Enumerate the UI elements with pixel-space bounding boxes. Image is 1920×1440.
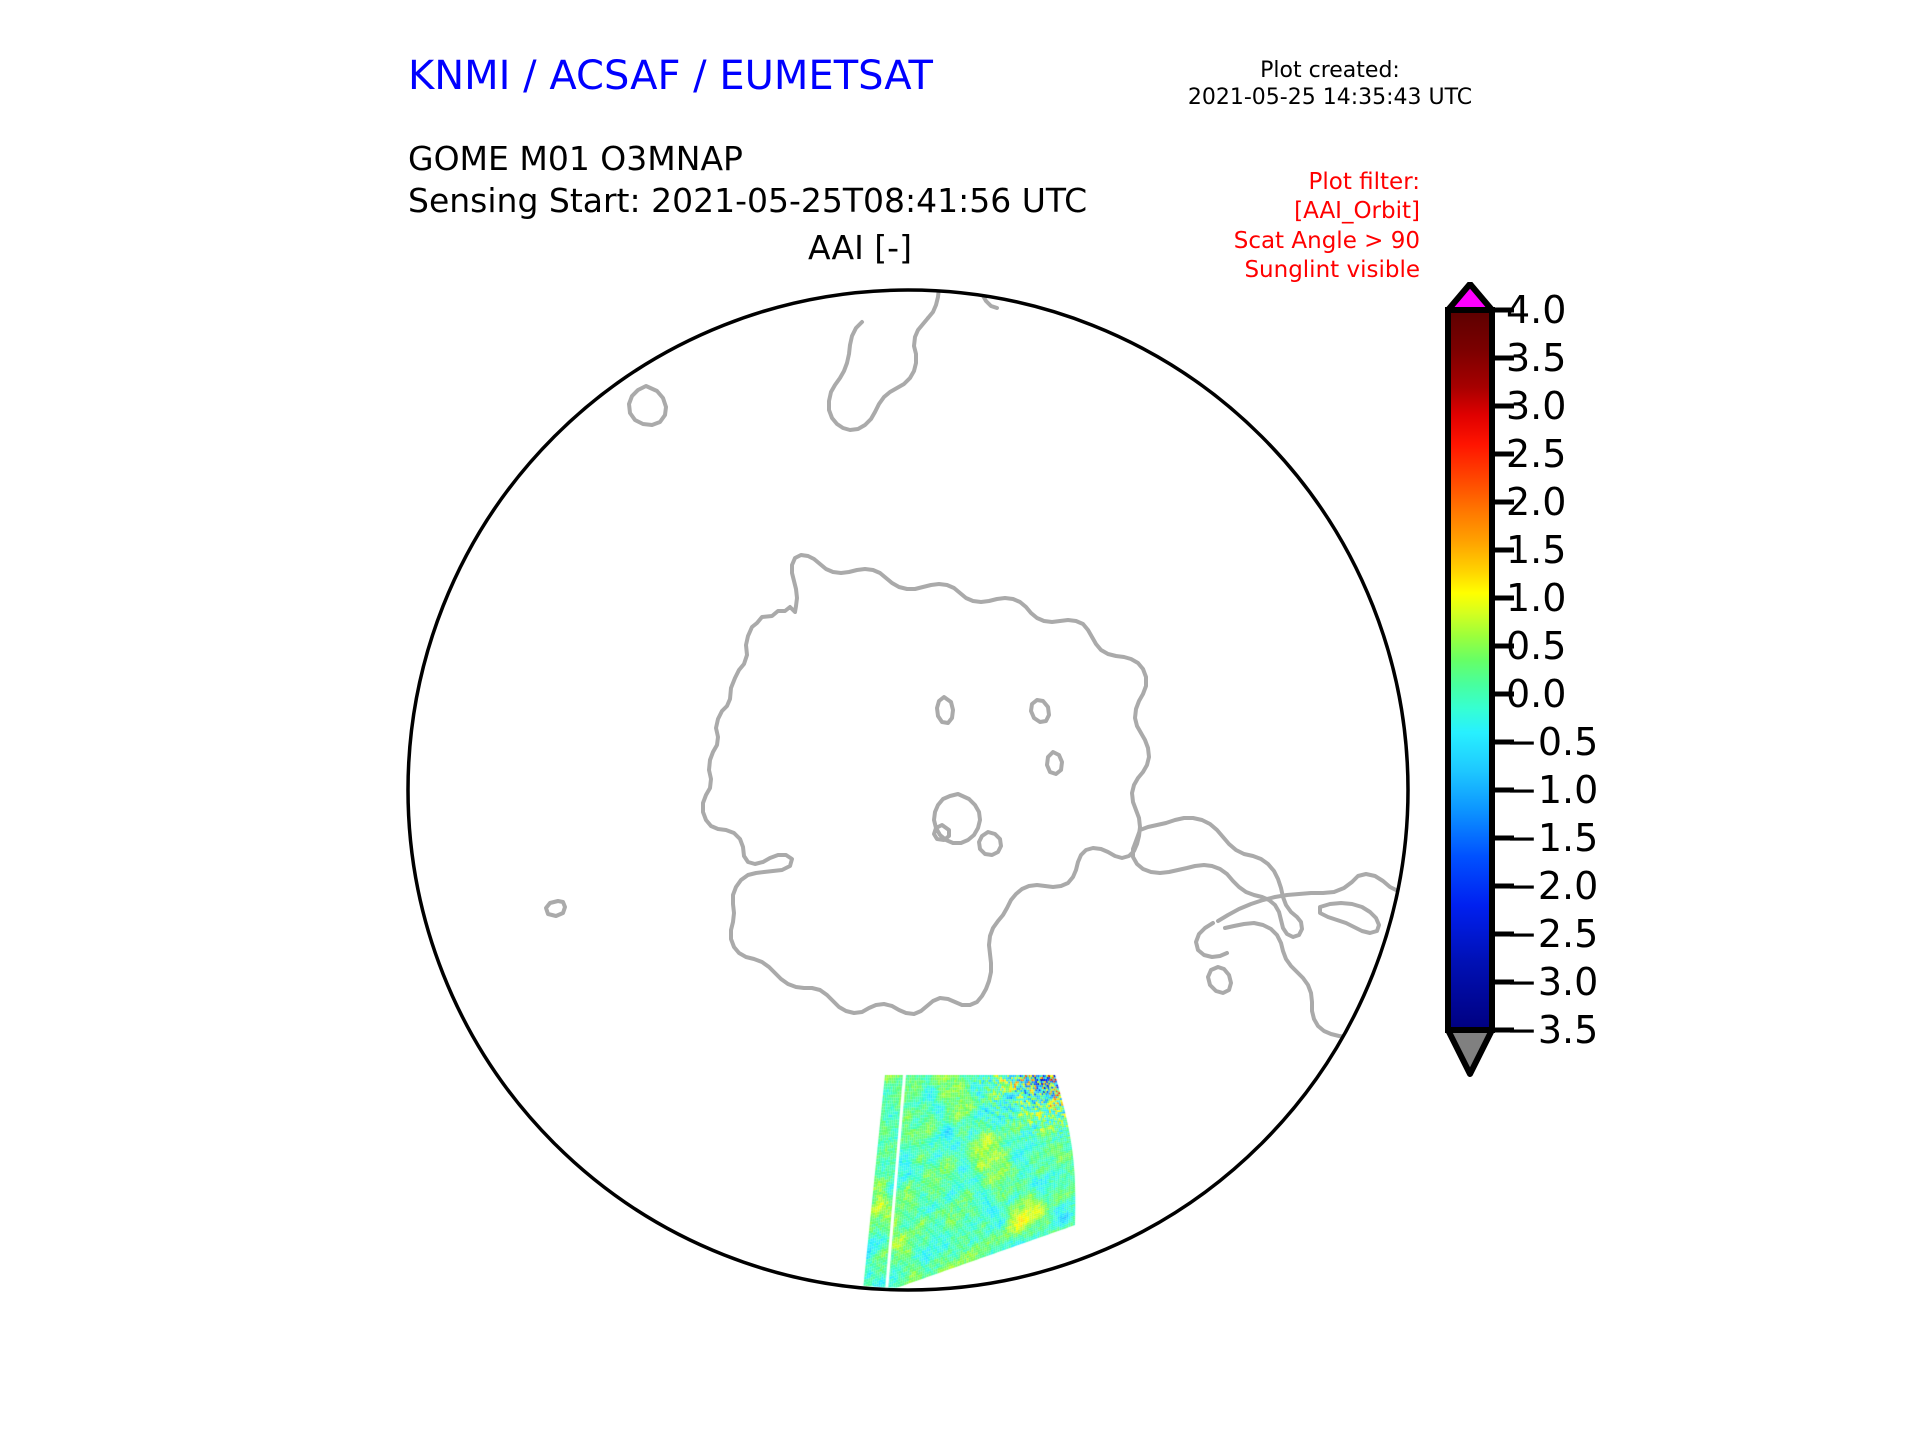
colorbar-over-arrow xyxy=(1448,284,1492,310)
coastline-new-zealand-south xyxy=(829,318,928,430)
coastline-tierra-del-fuego xyxy=(1320,903,1379,933)
colorbar[interactable]: 4.03.53.02.52.01.51.00.50.0−0.5−1.0−1.5−… xyxy=(1434,282,1794,1102)
colorbar-tick-label: −3.5 xyxy=(1506,1011,1598,1049)
colorbar-tick-label: 2.0 xyxy=(1506,483,1566,521)
colorbar-tick-label: 4.0 xyxy=(1506,291,1566,329)
colorbar-tick-label: −1.5 xyxy=(1506,819,1598,857)
coastline-island-4 xyxy=(1047,752,1062,774)
colorbar-tick-label: 0.0 xyxy=(1506,675,1566,713)
colorbar-under-arrow xyxy=(1448,1030,1492,1074)
colorbar-tick-label: −3.0 xyxy=(1506,963,1598,1001)
coastline-small-inlet-1 xyxy=(979,832,1001,855)
colorbar-tick-label: −2.0 xyxy=(1506,867,1598,905)
colorbar-tick-label: 1.5 xyxy=(1506,531,1566,569)
coastline-island-top-left xyxy=(588,348,608,369)
coastline-sa-west-coast xyxy=(1196,923,1227,957)
colorbar-tick-label: 3.5 xyxy=(1506,339,1566,377)
colorbar-tick-label: −0.5 xyxy=(1506,723,1598,761)
coastline-island-2 xyxy=(937,697,953,723)
colorbar-tick-label: 0.5 xyxy=(1506,627,1566,665)
colorbar-tick-label: −1.0 xyxy=(1506,771,1598,809)
coastline-island-1 xyxy=(934,825,949,840)
coastline-tasmania xyxy=(629,386,666,425)
colorbar-tick-label: 1.0 xyxy=(1506,579,1566,617)
colorbar-bar xyxy=(1448,310,1492,1030)
coastline-south-america-east xyxy=(1225,923,1394,1081)
coastline-island-3 xyxy=(1031,700,1049,722)
coastline-island-small-left xyxy=(546,901,565,916)
globe-boundary-circle xyxy=(408,290,1408,1290)
coastlines-group xyxy=(546,271,1433,1081)
coastline-ross-ice-shelf xyxy=(934,794,980,843)
colorbar-tick-label: 3.0 xyxy=(1506,387,1566,425)
coastline-falkland-islands xyxy=(1208,967,1231,993)
colorbar-tick-label: 2.5 xyxy=(1506,435,1566,473)
colorbar-tick-label: −2.5 xyxy=(1506,915,1598,953)
coastline-antarctica xyxy=(703,555,1149,1014)
